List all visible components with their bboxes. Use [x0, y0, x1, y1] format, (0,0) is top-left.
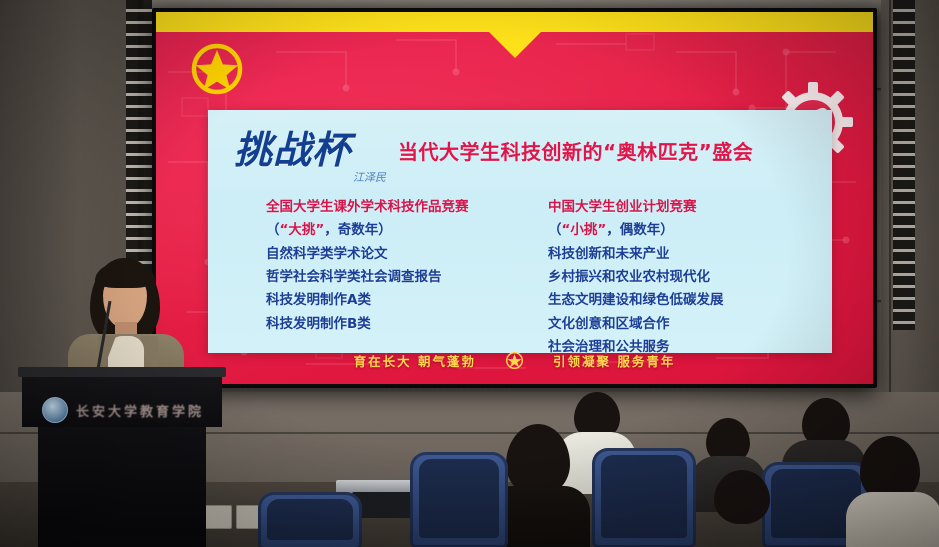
- subtitle-suffix: ，偶数年）: [606, 222, 674, 238]
- lecture-hall-scene: 挑战杯 江泽民 当代大学生科技创新的“奥林匹克”盛会 全国大学生课外学术科技作品…: [0, 0, 939, 547]
- column-item: 乡村振兴和农业农村现代化: [548, 266, 832, 289]
- slide-notch-triangle: [489, 32, 541, 58]
- podium-front-panel: 长安大学教育学院: [22, 375, 222, 427]
- slogan-right: 引领凝聚 服务青年: [553, 351, 675, 370]
- column-item: 科技创新和未来产业: [548, 243, 832, 266]
- podium-body: [38, 427, 206, 547]
- subtitle-suffix: ，奇数年）: [324, 222, 392, 238]
- column-item: 哲学社会科学类社会调查报告: [266, 266, 520, 289]
- subtitle-prefix: （: [548, 222, 562, 238]
- auditorium-seat: [258, 492, 362, 547]
- brand-calligraphy-block: 挑战杯 江泽民: [208, 131, 398, 169]
- slide-content-card: 挑战杯 江泽民 当代大学生科技创新的“奥林匹克”盛会 全国大学生课外学术科技作品…: [208, 110, 832, 353]
- column-item: 生态文明建设和绿色低碳发展: [548, 289, 832, 312]
- brand-signature: 江泽民: [353, 169, 386, 185]
- lectern-podium: 长安大学教育学院: [18, 367, 226, 547]
- auditorium-seat: [592, 448, 696, 547]
- podium-institution-name: 长安大学教育学院: [76, 401, 204, 420]
- led-display-bezel: 挑战杯 江泽民 当代大学生科技创新的“奥林匹克”盛会 全国大学生课外学术科技作品…: [152, 8, 877, 388]
- subtitle-prefix: （: [266, 222, 280, 238]
- column-title: 中国大学生创业计划竞赛: [548, 196, 832, 219]
- subtitle-emphasis: “小挑”: [562, 222, 607, 238]
- column-item: 文化创意和区域合作: [548, 313, 832, 336]
- slide-top-yellow-band: [156, 12, 873, 32]
- brand-calligraphy: 挑战杯: [234, 131, 398, 169]
- star-icon: [506, 352, 523, 369]
- slide-title-row: 挑战杯 江泽民 当代大学生科技创新的“奥林匹克”盛会: [208, 118, 832, 182]
- audience-head: [714, 470, 770, 524]
- speaker-fringe: [95, 262, 155, 288]
- podium-top-surface: [18, 367, 226, 377]
- left-vent-slats: [126, 0, 152, 300]
- slogan-left: 育在长大 朝气蓬勃: [354, 351, 476, 370]
- slide-headline: 当代大学生科技创新的“奥林匹克”盛会: [398, 136, 753, 165]
- column-item: 自然科学类学术论文: [266, 243, 520, 266]
- subtitle-emphasis: “大挑”: [280, 222, 325, 238]
- column-subtitle: （“大挑”，奇数年）: [266, 219, 520, 242]
- university-crest-icon: [42, 397, 68, 423]
- column-subtitle: （“小挑”，偶数年）: [548, 219, 832, 242]
- star-in-circle-icon: [190, 42, 244, 96]
- column-item: 科技发明制作B类: [266, 313, 520, 336]
- right-vent-slats: [893, 0, 915, 330]
- presentation-slide: 挑战杯 江泽民 当代大学生科技创新的“奥林匹克”盛会 全国大学生课外学术科技作品…: [156, 12, 873, 384]
- slide-columns: 全国大学生课外学术科技作品竞赛 （“大挑”，奇数年） 自然科学类学术论文 哲学社…: [208, 196, 832, 359]
- audience-member: [700, 470, 792, 547]
- column-challenge-cup-entrepreneurship: 中国大学生创业计划竞赛 （“小挑”，偶数年） 科技创新和未来产业 乡村振兴和农业…: [520, 196, 832, 359]
- audience-torso: [846, 492, 939, 547]
- slide-slogan-bar: 育在长大 朝气蓬勃 引领凝聚 服务青年: [156, 351, 873, 370]
- column-title: 全国大学生课外学术科技作品竞赛: [266, 196, 520, 219]
- auditorium-seat: [410, 452, 508, 547]
- column-challenge-cup-academic: 全国大学生课外学术科技作品竞赛 （“大挑”，奇数年） 自然科学类学术论文 哲学社…: [208, 196, 520, 359]
- column-item: 科技发明制作A类: [266, 289, 520, 312]
- audience-member: [846, 436, 939, 547]
